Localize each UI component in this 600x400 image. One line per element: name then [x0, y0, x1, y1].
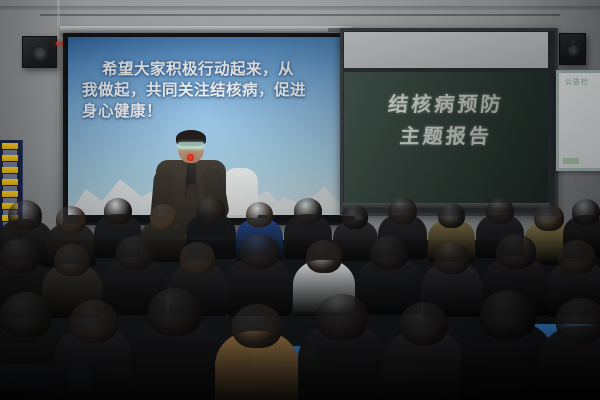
audience-member-head: [54, 244, 90, 276]
banner-block: [2, 155, 18, 161]
audience-member-head: [534, 204, 564, 231]
audience-member-head: [496, 234, 536, 269]
audience-member-head: [556, 298, 600, 343]
audience-member-head: [370, 236, 408, 270]
banner-block: [2, 167, 18, 173]
banner-block: [2, 179, 18, 185]
slide-line-2: 我做起，共同关注结核病，促进: [82, 80, 332, 101]
audience-member-head: [148, 288, 202, 336]
notice-board-heading: 公告栏: [565, 77, 597, 86]
audience-member-head: [480, 290, 536, 340]
wall-speaker-left-icon: [22, 36, 57, 68]
audience-member-head: [342, 205, 368, 229]
slide-text-block: 希望大家积极行动起来，从 我做起，共同关注结核病，促进 身心健康！: [82, 59, 332, 122]
blackboard-line-2: 主题报告: [342, 120, 549, 149]
microphone-led-icon: [187, 154, 194, 161]
speaker-led-indicator: [56, 42, 59, 45]
audience-member-head: [294, 198, 322, 224]
audience-member-head: [56, 206, 86, 233]
lecture-hall-photo: 希望大家积极行动起来，从 我做起，共同关注结核病，促进 身心健康！ 结核病预防 …: [0, 0, 600, 400]
audience-member-head: [438, 203, 465, 228]
audience-member-head: [246, 202, 273, 227]
audience-member-head: [8, 200, 42, 230]
slide-line-3: 身心健康！: [82, 101, 332, 122]
audience-member-head: [306, 240, 342, 273]
notice-accent: [563, 158, 579, 164]
audience-member-head: [240, 234, 279, 269]
audience-member-head: [70, 300, 118, 343]
slide-line-1: 希望大家积极行动起来，从: [82, 59, 332, 80]
audience-member-head: [434, 242, 470, 274]
audience-member-head: [316, 294, 368, 340]
audience: [0, 196, 600, 400]
audience-member-head: [572, 199, 600, 225]
audience-member-head: [0, 238, 40, 273]
audience-member-head: [486, 198, 514, 224]
audience-member-head: [180, 242, 215, 274]
audience-member-head: [558, 240, 596, 274]
audience-member-head: [0, 292, 52, 338]
audience-member-head: [116, 236, 154, 270]
blackboard: 结核病预防 主题报告: [344, 72, 548, 206]
wall-speaker-right-icon: [559, 33, 586, 65]
banner-block: [2, 143, 18, 149]
blackboard-line-1: 结核病预防: [342, 88, 549, 117]
speaker-cone-icon: [566, 43, 580, 57]
audience-member-head: [400, 302, 448, 345]
glasses-icon: [178, 142, 204, 149]
audience-member-head: [232, 304, 282, 348]
audience-member-head: [104, 198, 132, 224]
audience-member-head: [150, 204, 176, 229]
audience-member-head: [388, 197, 417, 224]
notice-board: 公告栏: [556, 70, 600, 171]
audience-member-head: [196, 196, 225, 223]
speaker-cone-icon: [31, 44, 48, 61]
whiteboard-panel: [344, 32, 548, 68]
